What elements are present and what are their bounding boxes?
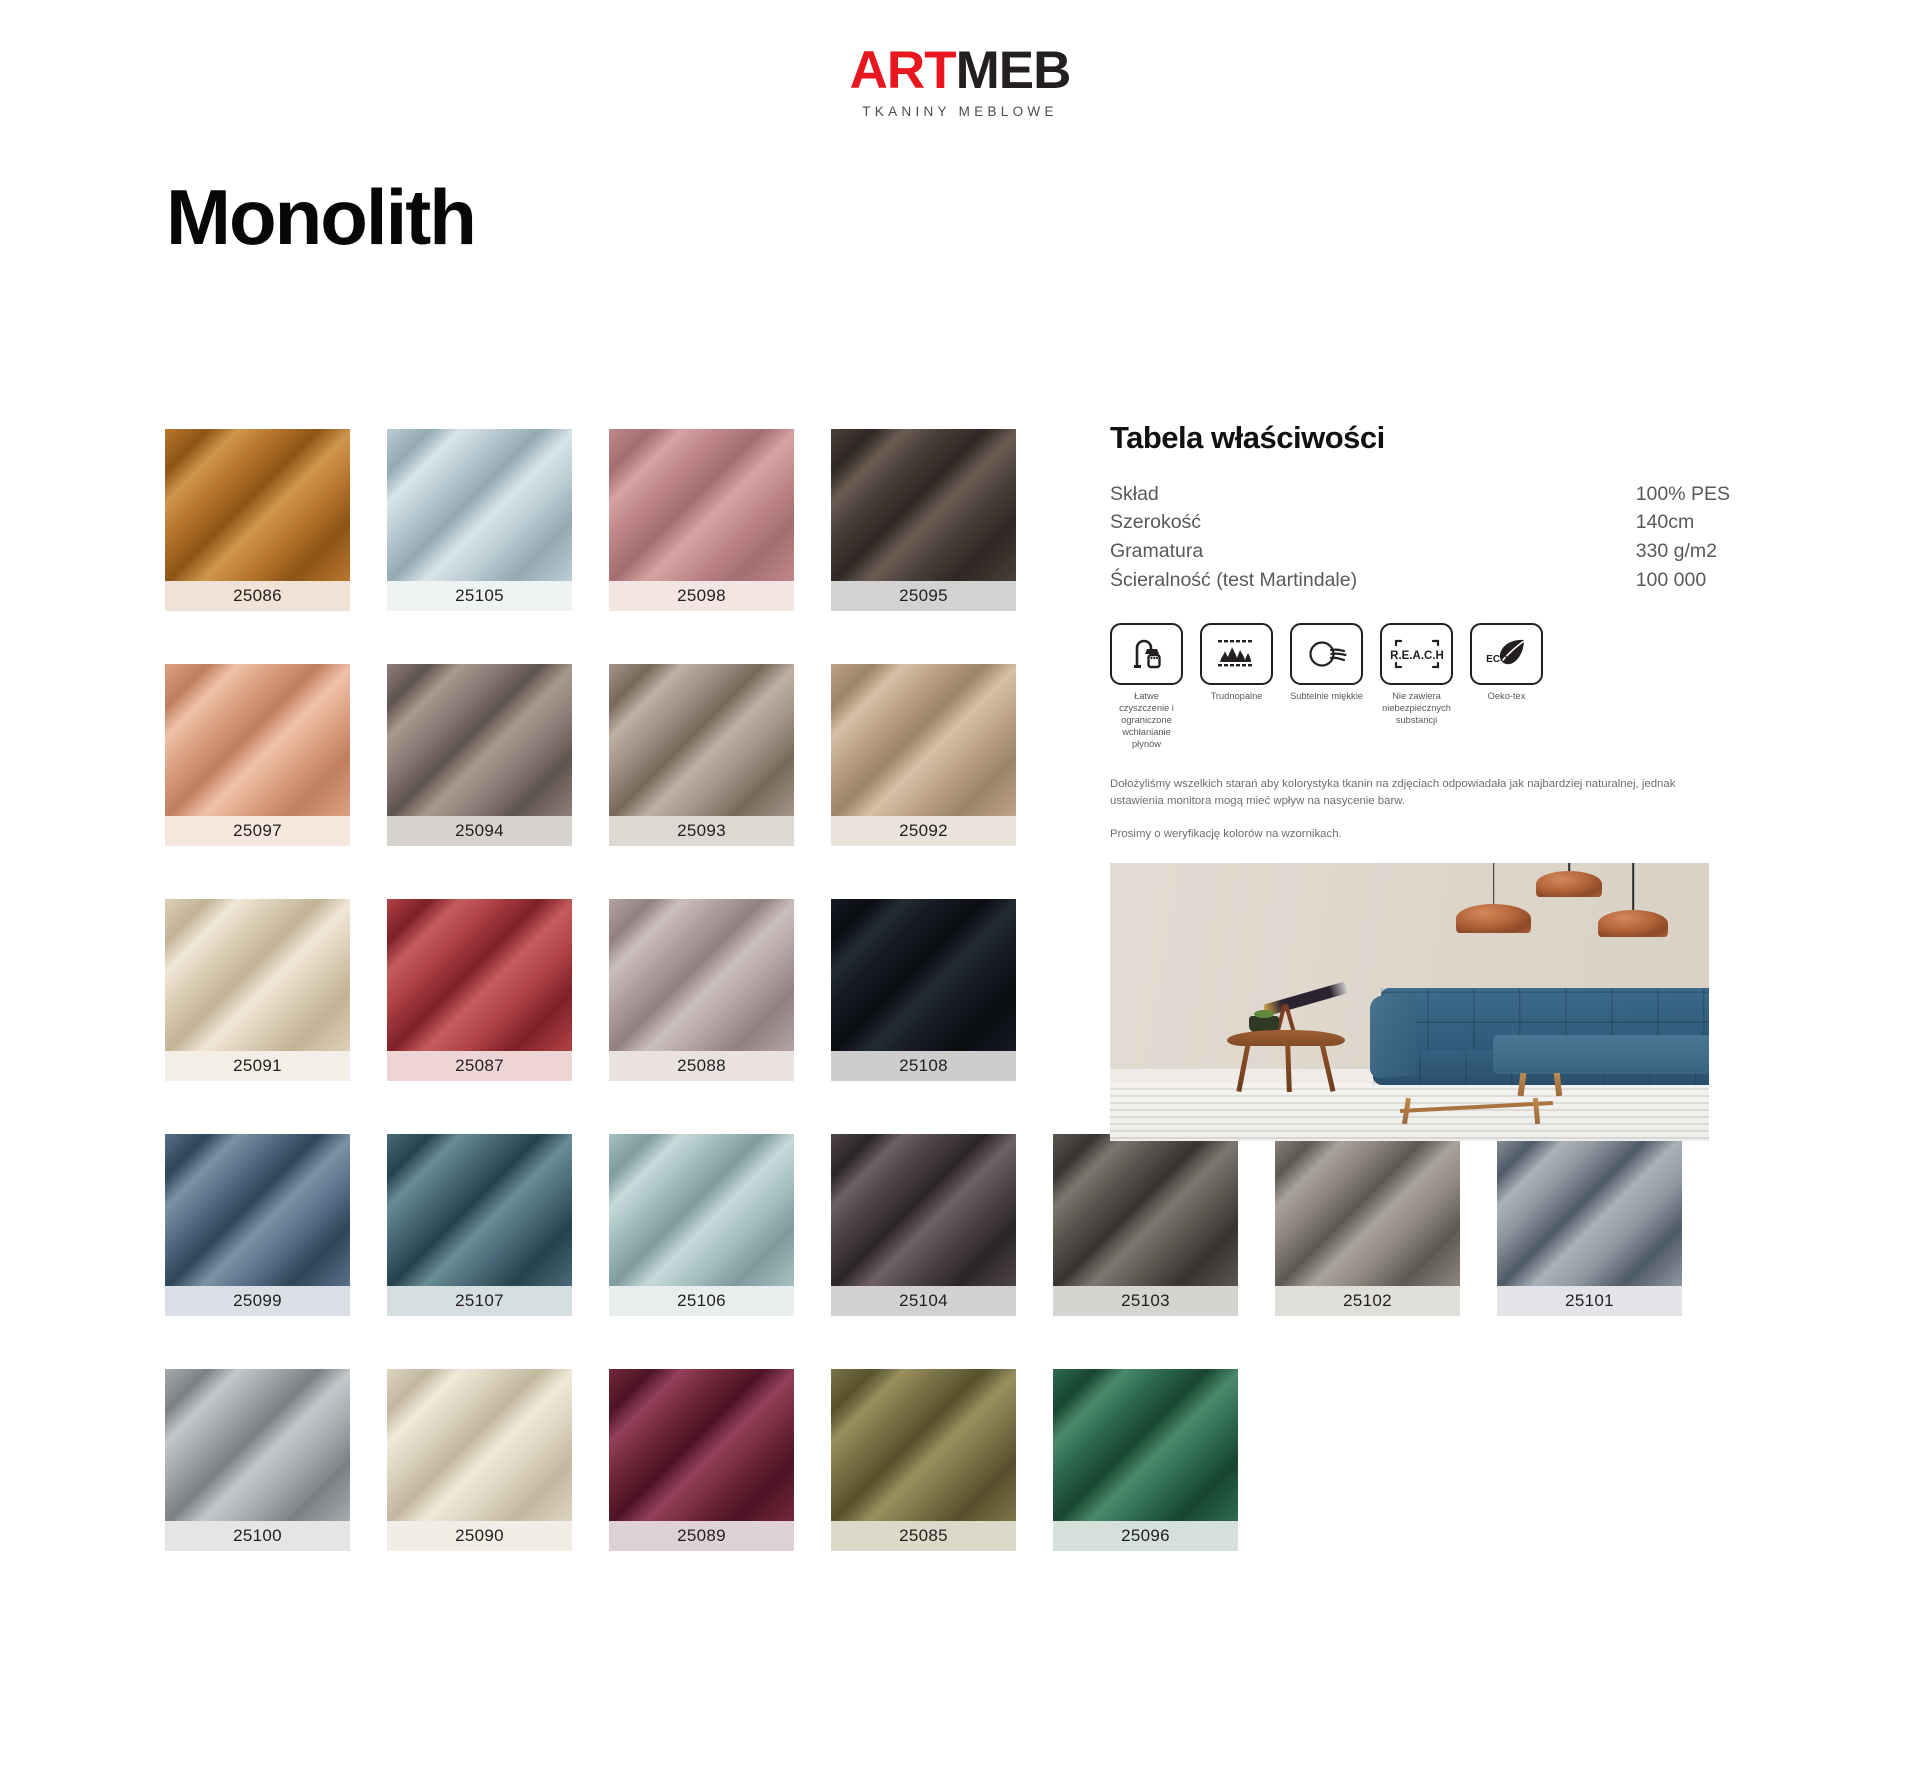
swatch-code: 25105 bbox=[455, 586, 504, 605]
fabric-swatch[interactable]: 25096 bbox=[1053, 1369, 1238, 1551]
swatch-label: 25108 bbox=[831, 1051, 1016, 1081]
fabric-swatch[interactable]: 25104 bbox=[831, 1134, 1016, 1316]
feature-caption: Trudnopalne bbox=[1200, 691, 1273, 703]
swatch-code: 25104 bbox=[899, 1291, 948, 1310]
swatch-code: 25094 bbox=[455, 821, 504, 840]
logo-meb-text: MEB bbox=[956, 44, 1071, 97]
swatch-label: 25104 bbox=[831, 1286, 1016, 1316]
fabric-swatch[interactable]: 25103 bbox=[1053, 1134, 1238, 1316]
swatch-code: 25102 bbox=[1343, 1291, 1392, 1310]
feature-caption: Łatwe czyszczenie i ograniczone wchłania… bbox=[1110, 691, 1183, 750]
logo-art-text: ART bbox=[850, 44, 956, 97]
property-row: Skład100% PES bbox=[1110, 480, 1730, 509]
swatch-label: 25092 bbox=[831, 816, 1016, 846]
fabric-swatch[interactable]: 25092 bbox=[831, 664, 1016, 846]
logo-tagline: TKANINY MEBLOWE bbox=[862, 104, 1058, 119]
properties-table: Skład100% PESSzerokość140cmGramatura330 … bbox=[1110, 480, 1730, 595]
swatch-image bbox=[1275, 1134, 1460, 1286]
swatch-image bbox=[387, 1369, 572, 1521]
swatch-image bbox=[1497, 1134, 1682, 1286]
feature-caption: Oeko-tex bbox=[1470, 691, 1543, 703]
fabric-swatch[interactable]: 25102 bbox=[1275, 1134, 1460, 1316]
property-value: 330 g/m2 bbox=[1626, 537, 1730, 566]
swatch-label: 25090 bbox=[387, 1521, 572, 1551]
fabric-swatch[interactable]: 25093 bbox=[609, 664, 794, 846]
property-row: Szerokość140cm bbox=[1110, 509, 1730, 538]
flame-retardant-icon bbox=[1200, 623, 1273, 685]
fabric-swatch[interactable]: 25086 bbox=[165, 429, 350, 611]
swatch-image bbox=[1053, 1369, 1238, 1521]
property-label: Szerokość bbox=[1110, 509, 1626, 538]
fabric-swatch[interactable]: 25107 bbox=[387, 1134, 572, 1316]
swatch-label: 25102 bbox=[1275, 1286, 1460, 1316]
eco-leaf-icon: ECO bbox=[1470, 623, 1543, 685]
fabric-swatch[interactable]: 25106 bbox=[609, 1134, 794, 1316]
swatch-code: 25098 bbox=[677, 586, 726, 605]
disclaimer-paragraph-1: Dołożyliśmy wszelkich starań aby kolorys… bbox=[1110, 776, 1728, 809]
logo-wordmark: ARTMEB bbox=[850, 44, 1071, 97]
swatch-label: 25098 bbox=[609, 581, 794, 611]
swatch-image bbox=[1053, 1134, 1238, 1286]
feature-icons-row: Łatwe czyszczenie i ograniczone wchłania… bbox=[1110, 623, 1730, 750]
brand-logo: ARTMEB TKANINY MEBLOWE bbox=[0, 44, 1920, 119]
swatch-label: 25089 bbox=[609, 1521, 794, 1551]
swatch-code: 25107 bbox=[455, 1291, 504, 1310]
swatch-image bbox=[165, 899, 350, 1051]
fabric-swatch[interactable]: 25085 bbox=[831, 1369, 1016, 1551]
swatch-image bbox=[165, 429, 350, 581]
property-label: Skład bbox=[1110, 480, 1626, 509]
fabric-swatch[interactable]: 25089 bbox=[609, 1369, 794, 1551]
swatch-label: 25091 bbox=[165, 1051, 350, 1081]
fabric-swatch[interactable]: 25094 bbox=[387, 664, 572, 846]
fabric-swatch[interactable]: 25087 bbox=[387, 899, 572, 1081]
swatch-image bbox=[609, 429, 794, 581]
coffee-table bbox=[1227, 1030, 1344, 1091]
feature-item: Łatwe czyszczenie i ograniczone wchłania… bbox=[1110, 623, 1183, 750]
swatch-label: 25106 bbox=[609, 1286, 794, 1316]
fabric-swatch[interactable]: 25108 bbox=[831, 899, 1016, 1081]
swatch-label: 25088 bbox=[609, 1051, 794, 1081]
swatch-code: 25095 bbox=[899, 586, 948, 605]
properties-heading: Tabela właściwości bbox=[1110, 420, 1730, 456]
fabric-swatch[interactable]: 25091 bbox=[165, 899, 350, 1081]
fabric-swatch[interactable]: 25090 bbox=[387, 1369, 572, 1551]
swatch-code: 25087 bbox=[455, 1056, 504, 1075]
swatch-label: 25100 bbox=[165, 1521, 350, 1551]
swatch-code: 25097 bbox=[233, 821, 282, 840]
swatch-row: 2510025090250892508525096 bbox=[165, 1369, 1585, 1551]
right-column: Tabela właściwości Skład100% PESSzerokoś… bbox=[1110, 420, 1730, 1141]
swatch-image bbox=[831, 899, 1016, 1051]
fabric-swatch[interactable]: 25088 bbox=[609, 899, 794, 1081]
swatch-image bbox=[387, 664, 572, 816]
swatch-label: 25096 bbox=[1053, 1521, 1238, 1551]
swatch-label: 25093 bbox=[609, 816, 794, 846]
swatch-code: 25090 bbox=[455, 1526, 504, 1545]
ottoman-bench bbox=[1493, 1035, 1728, 1074]
color-disclaimer: Dołożyliśmy wszelkich starań aby kolorys… bbox=[1110, 776, 1728, 843]
swatch-label: 25087 bbox=[387, 1051, 572, 1081]
swatch-image bbox=[609, 1369, 794, 1521]
swatch-code: 25085 bbox=[899, 1526, 948, 1545]
swatch-image bbox=[387, 899, 572, 1051]
swatch-image bbox=[831, 1369, 1016, 1521]
soft-touch-icon bbox=[1290, 623, 1363, 685]
swatch-label: 25099 bbox=[165, 1286, 350, 1316]
swatch-code: 25086 bbox=[233, 586, 282, 605]
feature-caption: Nie zawiera niebezpiecznych substancji bbox=[1380, 691, 1453, 727]
swatch-image bbox=[609, 1134, 794, 1286]
swatch-label: 25105 bbox=[387, 581, 572, 611]
property-row: Gramatura330 g/m2 bbox=[1110, 537, 1730, 566]
disclaimer-paragraph-2: Prosimy o weryfikację kolorów na wzornik… bbox=[1110, 826, 1728, 843]
feature-item: Subtelnie miękkie bbox=[1290, 623, 1363, 750]
swatch-label: 25097 bbox=[165, 816, 350, 846]
swatch-image bbox=[165, 1134, 350, 1286]
swatch-code: 25089 bbox=[677, 1526, 726, 1545]
swatch-row: 25099251072510625104251032510225101 bbox=[165, 1134, 1585, 1316]
swatch-code: 25092 bbox=[899, 821, 948, 840]
swatch-image bbox=[165, 664, 350, 816]
feature-item: Trudnopalne bbox=[1200, 623, 1273, 750]
fabric-swatch[interactable]: 25098 bbox=[609, 429, 794, 611]
swatch-image bbox=[387, 429, 572, 581]
swatch-label: 25095 bbox=[831, 581, 1016, 611]
swatch-code: 25088 bbox=[677, 1056, 726, 1075]
swatch-label: 25107 bbox=[387, 1286, 572, 1316]
easy-clean-icon bbox=[1110, 623, 1183, 685]
property-row: Ścieralność (test Martindale)100 000 bbox=[1110, 566, 1730, 595]
swatch-label: 25101 bbox=[1497, 1286, 1682, 1316]
swatch-code: 25103 bbox=[1121, 1291, 1170, 1310]
property-value: 100% PES bbox=[1626, 480, 1730, 509]
svg-text:ECO: ECO bbox=[1486, 654, 1508, 665]
feature-caption: Subtelnie miękkie bbox=[1290, 691, 1363, 703]
fabric-swatch[interactable]: 25095 bbox=[831, 429, 1016, 611]
swatch-label: 25086 bbox=[165, 581, 350, 611]
swatch-image bbox=[609, 899, 794, 1051]
page-title: Monolith bbox=[166, 178, 475, 256]
feature-item: R.E.A.C.HNie zawiera niebezpiecznych sub… bbox=[1380, 623, 1453, 750]
swatch-image bbox=[387, 1134, 572, 1286]
swatch-image bbox=[831, 429, 1016, 581]
fabric-swatch[interactable]: 25100 bbox=[165, 1369, 350, 1551]
swatch-code: 25099 bbox=[233, 1291, 282, 1310]
swatch-code: 25108 bbox=[899, 1056, 948, 1075]
property-value: 140cm bbox=[1626, 509, 1730, 538]
fabric-swatch[interactable]: 25097 bbox=[165, 664, 350, 846]
swatch-code: 25106 bbox=[677, 1291, 726, 1310]
reach-icon: R.E.A.C.H bbox=[1380, 623, 1453, 685]
fabric-swatch[interactable]: 25099 bbox=[165, 1134, 350, 1316]
swatch-image bbox=[165, 1369, 350, 1521]
swatch-code: 25101 bbox=[1565, 1291, 1614, 1310]
interior-photo bbox=[1110, 863, 1728, 1141]
fabric-swatch[interactable]: 25105 bbox=[387, 429, 572, 611]
swatch-code: 25096 bbox=[1121, 1526, 1170, 1545]
swatch-image bbox=[831, 664, 1016, 816]
svg-text:R.E.A.C.H: R.E.A.C.H bbox=[1390, 650, 1444, 662]
swatch-code: 25091 bbox=[233, 1056, 282, 1075]
swatch-code: 25100 bbox=[233, 1526, 282, 1545]
property-label: Gramatura bbox=[1110, 537, 1626, 566]
swatch-label: 25085 bbox=[831, 1521, 1016, 1551]
feature-item: ECOOeko-tex bbox=[1470, 623, 1543, 750]
property-value: 100 000 bbox=[1626, 566, 1730, 595]
swatch-image bbox=[831, 1134, 1016, 1286]
property-label: Ścieralność (test Martindale) bbox=[1110, 566, 1626, 595]
swatch-code: 25093 bbox=[677, 821, 726, 840]
swatch-label: 25094 bbox=[387, 816, 572, 846]
swatch-image bbox=[609, 664, 794, 816]
fabric-swatch[interactable]: 25101 bbox=[1497, 1134, 1682, 1316]
swatch-label: 25103 bbox=[1053, 1286, 1238, 1316]
